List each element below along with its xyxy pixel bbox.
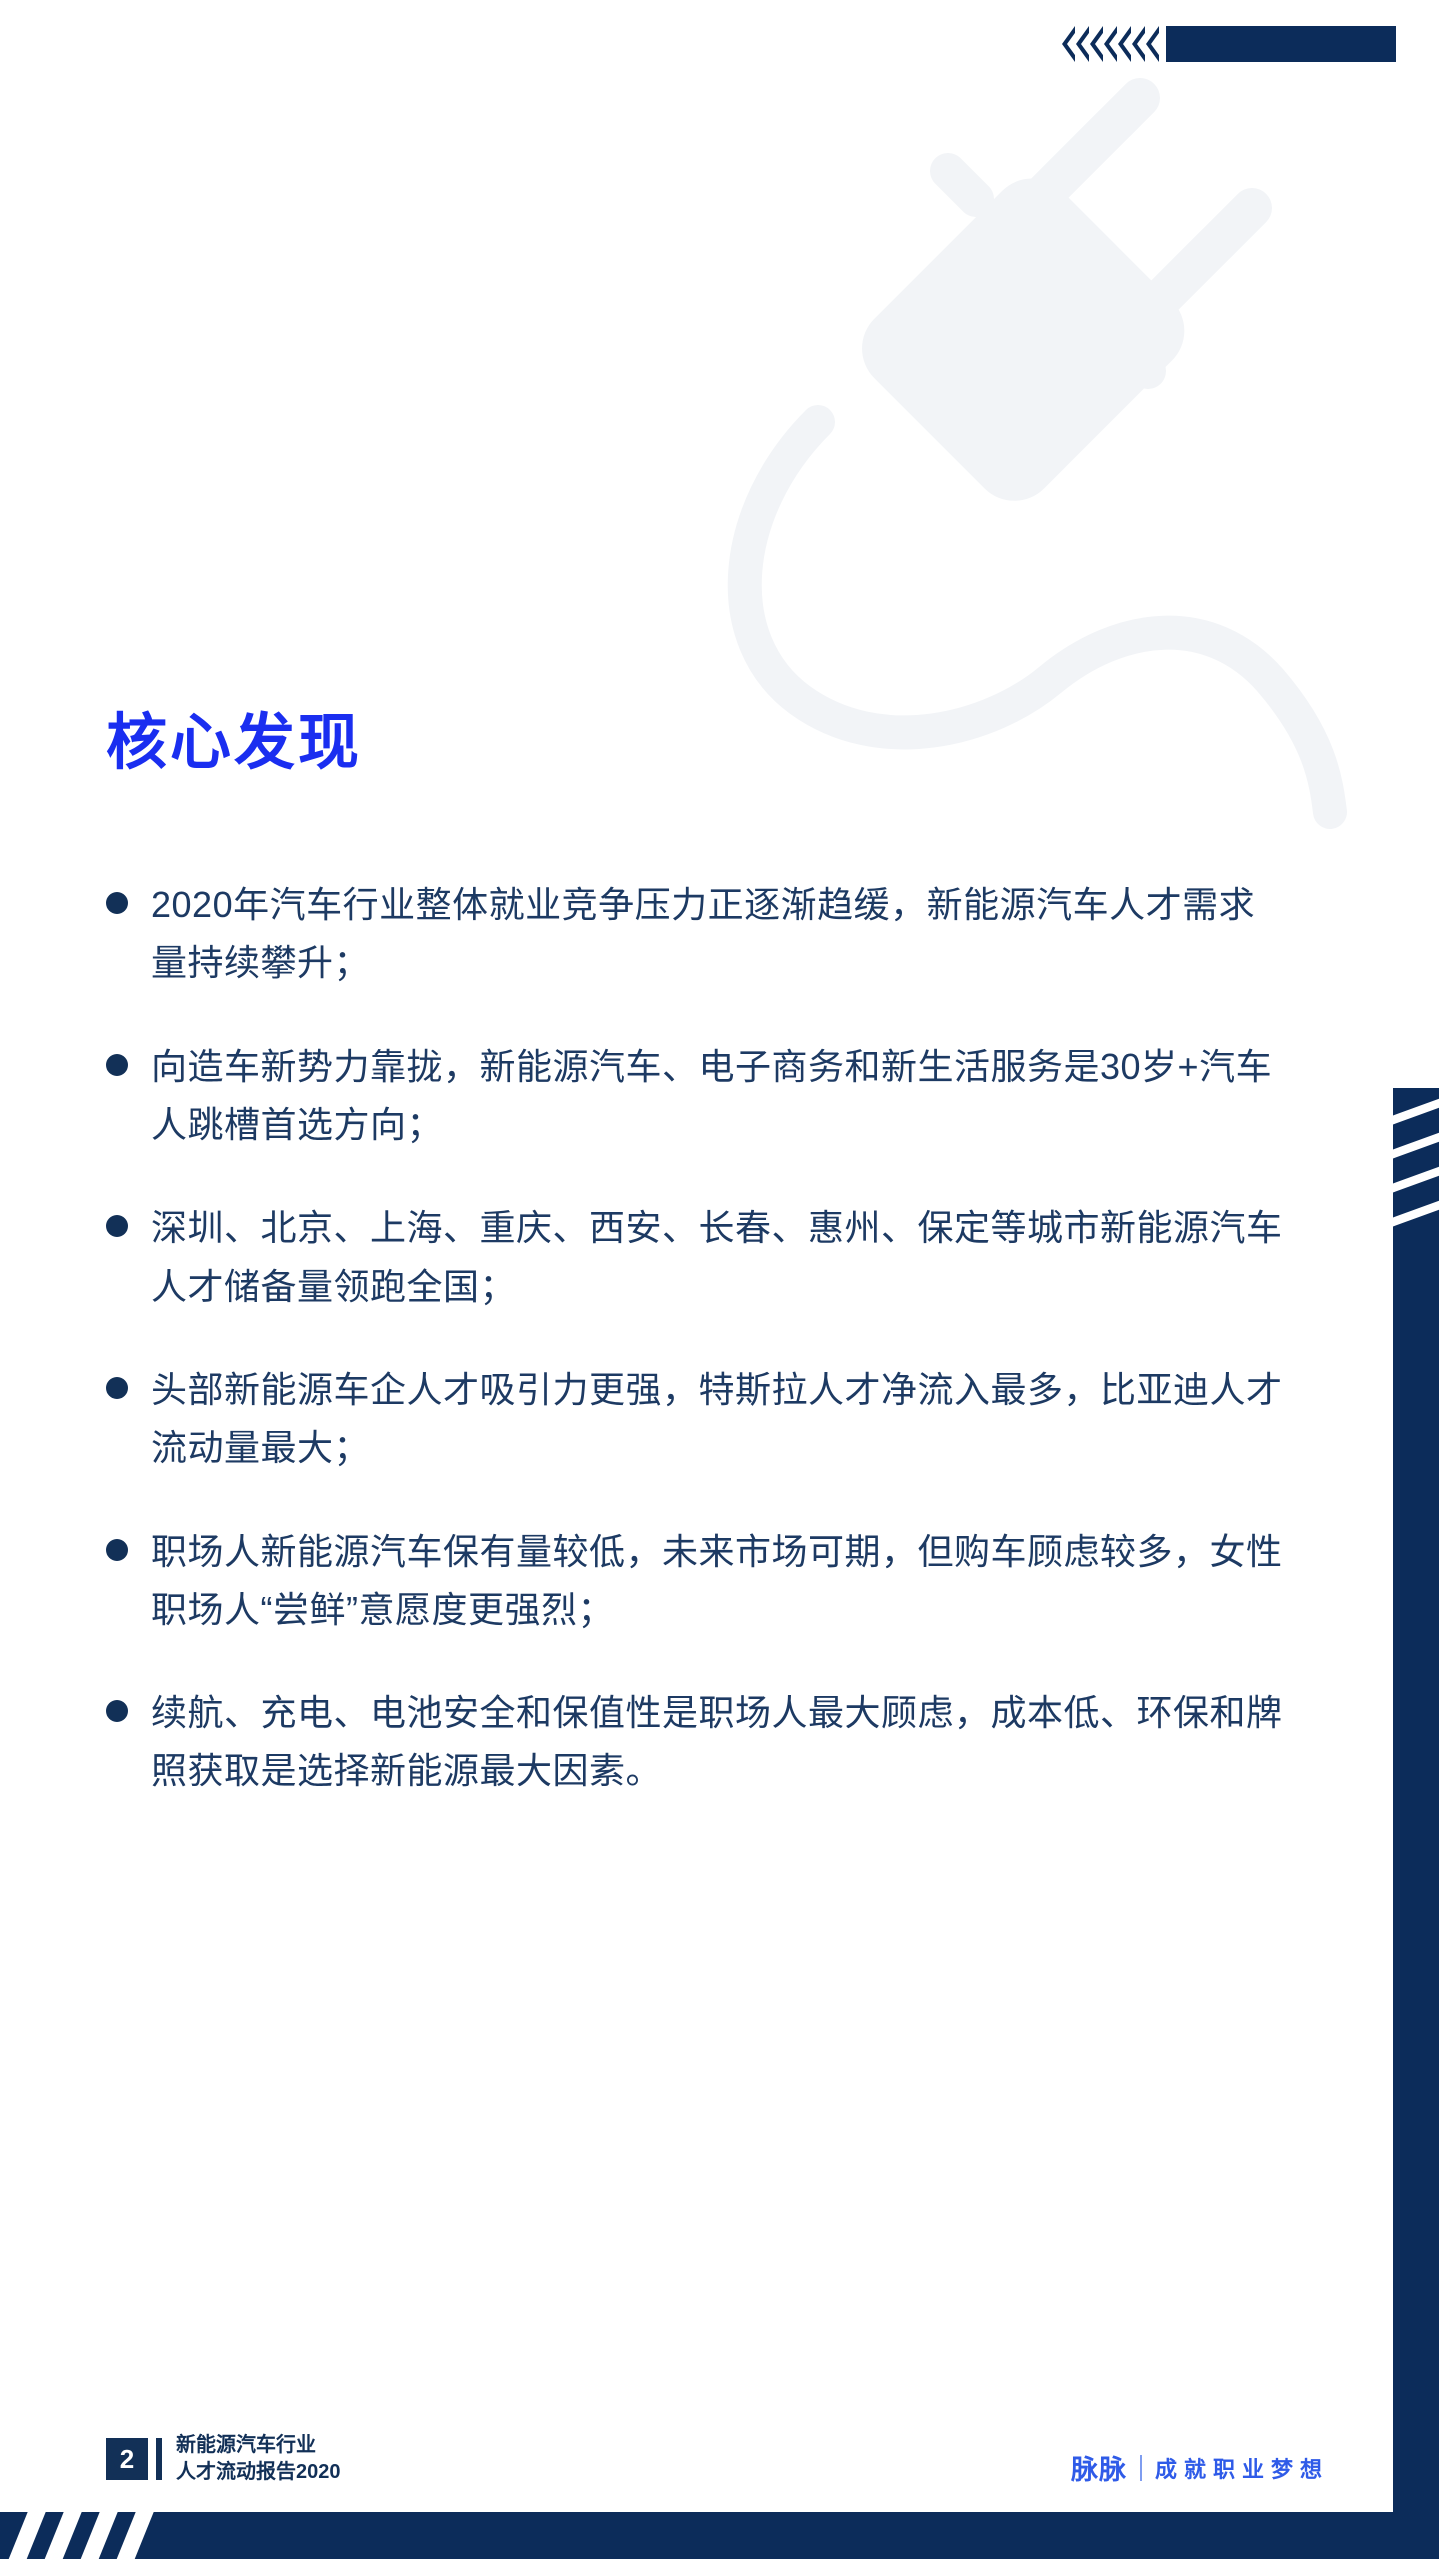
list-item-text: 职场人新能源汽车保有量较低，未来市场可期，但购车顾虑较多，女性职场人“尝鲜”意愿…: [151, 1523, 1286, 1640]
chevron-left-icon: [1118, 26, 1131, 62]
diagonal-stripe: [1393, 1159, 1439, 1197]
top-chevron-decoration: [1062, 26, 1396, 62]
list-item-text: 续航、充电、电池安全和保值性是职场人最大顾虑，成本低、环保和牌照获取是选择新能源…: [151, 1684, 1286, 1801]
diagonal-stripe: [3, 2512, 50, 2559]
list-item-text: 头部新能源车企人才吸引力更强，特斯拉人才净流入最多，比亚迪人才流动量最大；: [151, 1361, 1286, 1478]
footer-left: 2 新能源汽车行业 人才流动报告2020: [106, 2432, 341, 2486]
bullet-dot-icon: [106, 1054, 128, 1076]
right-stripe-decoration: [1393, 1088, 1439, 1248]
power-plug-watermark: [690, 40, 1390, 870]
bullet-dot-icon: [106, 1215, 128, 1237]
chevron-left-icon: [1146, 26, 1159, 62]
top-accent-bar: [1166, 26, 1396, 62]
page-number-badge: 2: [106, 2438, 148, 2480]
chevron-left-icon: [1076, 26, 1089, 62]
bottom-accent-bar: [0, 2512, 1439, 2559]
footer-report-line-1: 新能源汽车行业: [176, 2432, 341, 2459]
page-title: 核心发现: [106, 712, 362, 773]
diagonal-stripe: [39, 2512, 86, 2559]
list-item: 向造车新势力靠拢，新能源汽车、电子商务和新生活服务是30岁+汽车人跳槽首选方向；: [106, 1038, 1286, 1155]
page-footer: 2 新能源汽车行业 人才流动报告2020 脉脉 成就职业梦想: [0, 2432, 1439, 2502]
chevron-left-icon: [1132, 26, 1145, 62]
brand-logo-text: 脉脉: [1071, 2448, 1127, 2487]
key-findings-list: 2020年汽车行业整体就业竞争压力正逐渐趋缓，新能源汽车人才需求量持续攀升； 向…: [106, 876, 1286, 1846]
list-item: 职场人新能源汽车保有量较低，未来市场可期，但购车顾虑较多，女性职场人“尝鲜”意愿…: [106, 1523, 1286, 1640]
list-item-text: 向造车新势力靠拢，新能源汽车、电子商务和新生活服务是30岁+汽车人跳槽首选方向；: [151, 1038, 1286, 1155]
list-item-text: 2020年汽车行业整体就业竞争压力正逐渐趋缓，新能源汽车人才需求量持续攀升；: [151, 876, 1286, 993]
list-item: 深圳、北京、上海、重庆、西安、长春、惠州、保定等城市新能源汽车人才储备量领跑全国…: [106, 1199, 1286, 1316]
right-accent-bar: [1393, 1088, 1439, 2515]
brand-divider: [1140, 2455, 1142, 2481]
footer-divider: [156, 2438, 162, 2480]
diagonal-stripe: [75, 2512, 122, 2559]
bottom-slant-decoration: [0, 2512, 170, 2559]
bullet-dot-icon: [106, 1377, 128, 1399]
diagonal-stripe: [1393, 1091, 1439, 1129]
list-item: 头部新能源车企人才吸引力更强，特斯拉人才净流入最多，比亚迪人才流动量最大；: [106, 1361, 1286, 1478]
report-page: 核心发现 2020年汽车行业整体就业竞争压力正逐渐趋缓，新能源汽车人才需求量持续…: [0, 0, 1439, 2559]
brand-slogan: 成就职业梦想: [1155, 2452, 1329, 2484]
list-item: 2020年汽车行业整体就业竞争压力正逐渐趋缓，新能源汽车人才需求量持续攀升；: [106, 876, 1286, 993]
bullet-dot-icon: [106, 892, 128, 914]
list-item-text: 深圳、北京、上海、重庆、西安、长春、惠州、保定等城市新能源汽车人才储备量领跑全国…: [151, 1199, 1286, 1316]
chevron-left-icon: [1062, 26, 1075, 62]
footer-report-title: 新能源汽车行业 人才流动报告2020: [176, 2432, 341, 2486]
footer-right: 脉脉 成就职业梦想: [1071, 2448, 1329, 2487]
bullet-dot-icon: [106, 1700, 128, 1722]
diagonal-stripe: [1393, 1125, 1439, 1163]
footer-report-line-2: 人才流动报告2020: [176, 2459, 341, 2486]
bullet-dot-icon: [106, 1539, 128, 1561]
diagonal-stripe: [111, 2512, 158, 2559]
diagonal-stripe: [1393, 1193, 1439, 1231]
chevron-left-icon: [1090, 26, 1103, 62]
chevron-left-icon: [1104, 26, 1117, 62]
list-item: 续航、充电、电池安全和保值性是职场人最大顾虑，成本低、环保和牌照获取是选择新能源…: [106, 1684, 1286, 1801]
